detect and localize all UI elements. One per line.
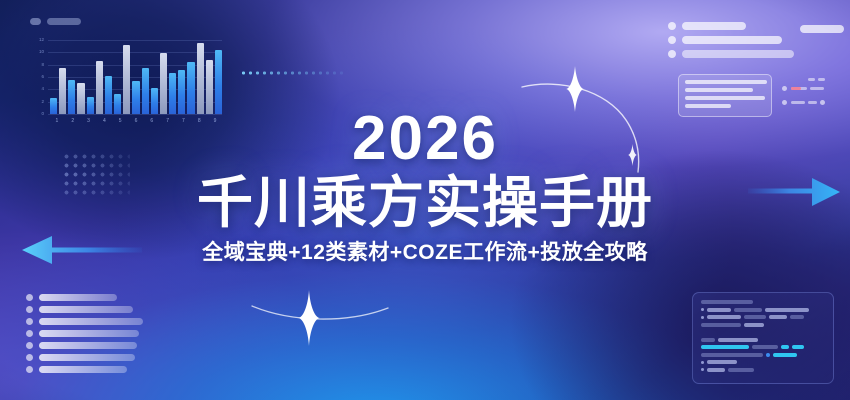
panel-dot: [782, 100, 787, 105]
panel-inner-line: [685, 96, 765, 100]
code-token: [701, 345, 749, 349]
banner-year: 2026: [0, 108, 850, 170]
code-token: [707, 308, 731, 312]
banner-subtitle: 全域宝典+12类素材+COZE工作流+投放全攻略: [0, 242, 850, 263]
list-item-placeholder: [39, 318, 143, 325]
code-snippet-card: [692, 292, 834, 384]
code-line: [701, 308, 825, 312]
code-token: [701, 338, 715, 342]
sparkle-icon: [250, 288, 390, 368]
code-token: [728, 368, 754, 372]
code-line: [701, 315, 825, 319]
code-token: [790, 315, 804, 319]
list-item-placeholder: [39, 342, 137, 349]
code-token: [765, 308, 809, 312]
dotted-line-decoration: [240, 71, 346, 75]
panel-row-placeholder: [682, 36, 782, 44]
code-token: [769, 315, 787, 319]
panel-dash: [810, 87, 824, 90]
chart-bar: [160, 53, 167, 114]
chart-y-tick-label: 12: [39, 38, 44, 43]
panel-dash-accent: [791, 87, 801, 90]
chart-bar: [187, 62, 194, 114]
panel-inner-line: [685, 88, 753, 92]
chart-bar: [96, 61, 103, 114]
code-line: [701, 300, 825, 304]
chart-bar: [215, 50, 222, 114]
panel-bullet-icon: [668, 22, 676, 30]
code-token: [744, 315, 766, 319]
list-item-placeholder: [39, 294, 117, 301]
code-token: [701, 353, 763, 357]
list-item: [26, 366, 146, 373]
panel-dot-matrix: [782, 78, 828, 112]
chart-legend: [30, 18, 81, 25]
list-item: [26, 354, 146, 361]
chart-y-tick-label: 10: [39, 50, 44, 55]
chart-y-tick-label: 8: [41, 62, 44, 67]
list-bullet-icon: [26, 318, 33, 325]
list-bullet-icon: [26, 354, 33, 361]
code-line: [701, 368, 825, 372]
code-token: [792, 345, 804, 349]
code-token: [701, 323, 741, 327]
code-line: [701, 338, 825, 342]
panel-dash: [791, 101, 805, 104]
chart-y-tick-label: 2: [41, 99, 44, 104]
code-token: [701, 316, 704, 319]
title-block: 2026 千川乘方实操手册 全域宝典+12类素材+COZE工作流+投放全攻略: [0, 108, 850, 263]
list-item: [26, 306, 146, 313]
banner-headline: 千川乘方实操手册: [0, 174, 850, 232]
list-item: [26, 294, 146, 301]
legend-label-placeholder: [47, 18, 81, 25]
list-item: [26, 342, 146, 349]
list-item-placeholder: [39, 366, 127, 373]
code-line: [701, 353, 825, 357]
panel-chip: [800, 25, 844, 33]
chart-bar: [123, 45, 130, 114]
code-token: [701, 368, 704, 371]
list-bullet-icon: [26, 330, 33, 337]
code-token: [734, 308, 762, 312]
list-bullet-icon: [26, 366, 33, 373]
code-token: [707, 368, 725, 372]
code-token: [707, 360, 737, 364]
code-token: [701, 361, 704, 364]
list-placeholder-card: [26, 294, 146, 380]
panel-row-placeholder: [682, 22, 746, 30]
panel-dash: [808, 78, 815, 81]
chart-y-tick-label: 6: [41, 75, 44, 80]
chart-bars: [50, 40, 222, 114]
legend-dot-icon: [30, 18, 41, 25]
panel-row: [668, 50, 844, 58]
chart-bar: [197, 43, 204, 114]
panel-row: [668, 36, 844, 44]
panel-dash: [808, 101, 817, 104]
list-item-placeholder: [39, 330, 139, 337]
list-bullet-icon: [26, 342, 33, 349]
code-line: [701, 360, 825, 364]
chart-bar: [206, 60, 213, 114]
panel-dot: [820, 100, 825, 105]
panel-row-placeholder: [682, 50, 794, 58]
promo-banner: 121086420 12345667789: [0, 0, 850, 400]
list-item-placeholder: [39, 354, 135, 361]
code-token: [707, 315, 741, 319]
code-token: [766, 353, 770, 357]
code-line: [701, 323, 825, 327]
panel-dot: [782, 86, 787, 91]
code-token: [773, 353, 797, 357]
chart-plot-area: 121086420: [48, 36, 222, 114]
panel-dash: [818, 78, 825, 81]
panel-bullet-icon: [668, 36, 676, 44]
list-item: [26, 330, 146, 337]
code-token: [701, 300, 753, 304]
list-item-placeholder: [39, 306, 133, 313]
list-bullet-icon: [26, 294, 33, 301]
list-bullet-icon: [26, 306, 33, 313]
code-token: [701, 308, 704, 311]
code-line: [701, 330, 825, 334]
code-token: [744, 323, 764, 327]
code-token: [781, 345, 789, 349]
code-token: [718, 338, 758, 342]
list-item: [26, 318, 146, 325]
panel-placeholder-card: [668, 22, 844, 120]
panel-bullet-icon: [668, 50, 676, 58]
chart-y-tick-label: 4: [41, 87, 44, 92]
panel-inner-line: [685, 80, 767, 84]
code-line: [701, 345, 825, 349]
code-token: [752, 345, 778, 349]
